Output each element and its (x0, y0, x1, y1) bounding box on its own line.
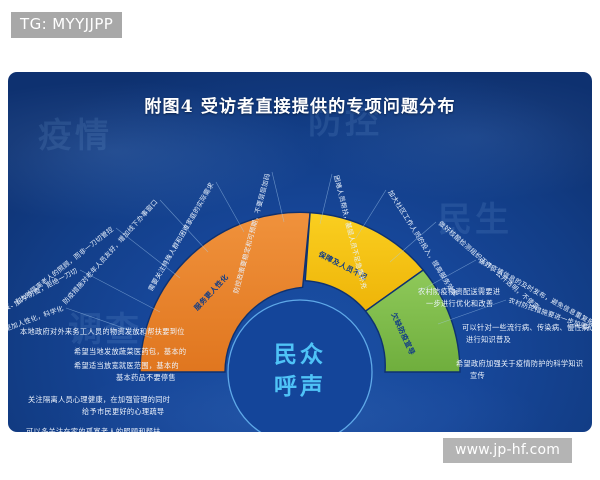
flat-label-left-5: 关注隔离人员心理健康，在加强管理的同时 (28, 395, 170, 404)
flat-label-left-4: 基本药品不要停售 (116, 373, 176, 382)
tg-handle-tag: TG: MYYJJPP (11, 12, 122, 38)
flat-label-right-5: 希望政府加强关于疫情防护的科学知识 (456, 359, 583, 368)
flat-label-left-7: 可以多关注在家的孤寡老人的照顾和帮扶 (26, 427, 161, 432)
flat-label-left-2: 希望当地发放蔬菜医药包，基本的 (74, 347, 186, 356)
flat-label-left-6: 给予市民更好的心理疏导 (82, 407, 164, 416)
hub-label-line2: 呼声 (274, 374, 326, 400)
flat-label-right-3: 可以针对一些流行病、传染病、慢性病 (462, 323, 589, 332)
hub-label-line1: 民众 (274, 342, 326, 368)
half-donut-chart: 民众 呼声 服务更人性化 保障及人员不足 欠缺防疫宣导 希望防疫更 (8, 72, 592, 432)
infographic-card: 疫情 防控 民生 调查 附图4 受访者直接提供的专项问题分布 (8, 72, 592, 432)
flat-label-right-1: 农村防疫物资配送需要进 (418, 287, 500, 296)
flat-label-right-6: 宣传 (470, 371, 485, 380)
screenshot-root: TG: MYYJJPP 疫情 防控 民生 调查 附图4 受访者直接提供的专项问题… (0, 0, 600, 480)
flat-label-right-4: 进行知识普及 (466, 335, 511, 344)
spoke-label-1: 希望防疫更加人性化，科学化 (8, 303, 65, 342)
site-watermark: www.jp-hf.com (443, 438, 572, 463)
flat-label-left-1: 本地政府对外来务工人员的物资发放和帮扶要到位 (20, 327, 185, 336)
flat-label-right-2: 一步进行优化和改善 (426, 299, 493, 308)
flat-label-left-3: 希望适当放宽就医范围，基本的 (74, 361, 179, 370)
